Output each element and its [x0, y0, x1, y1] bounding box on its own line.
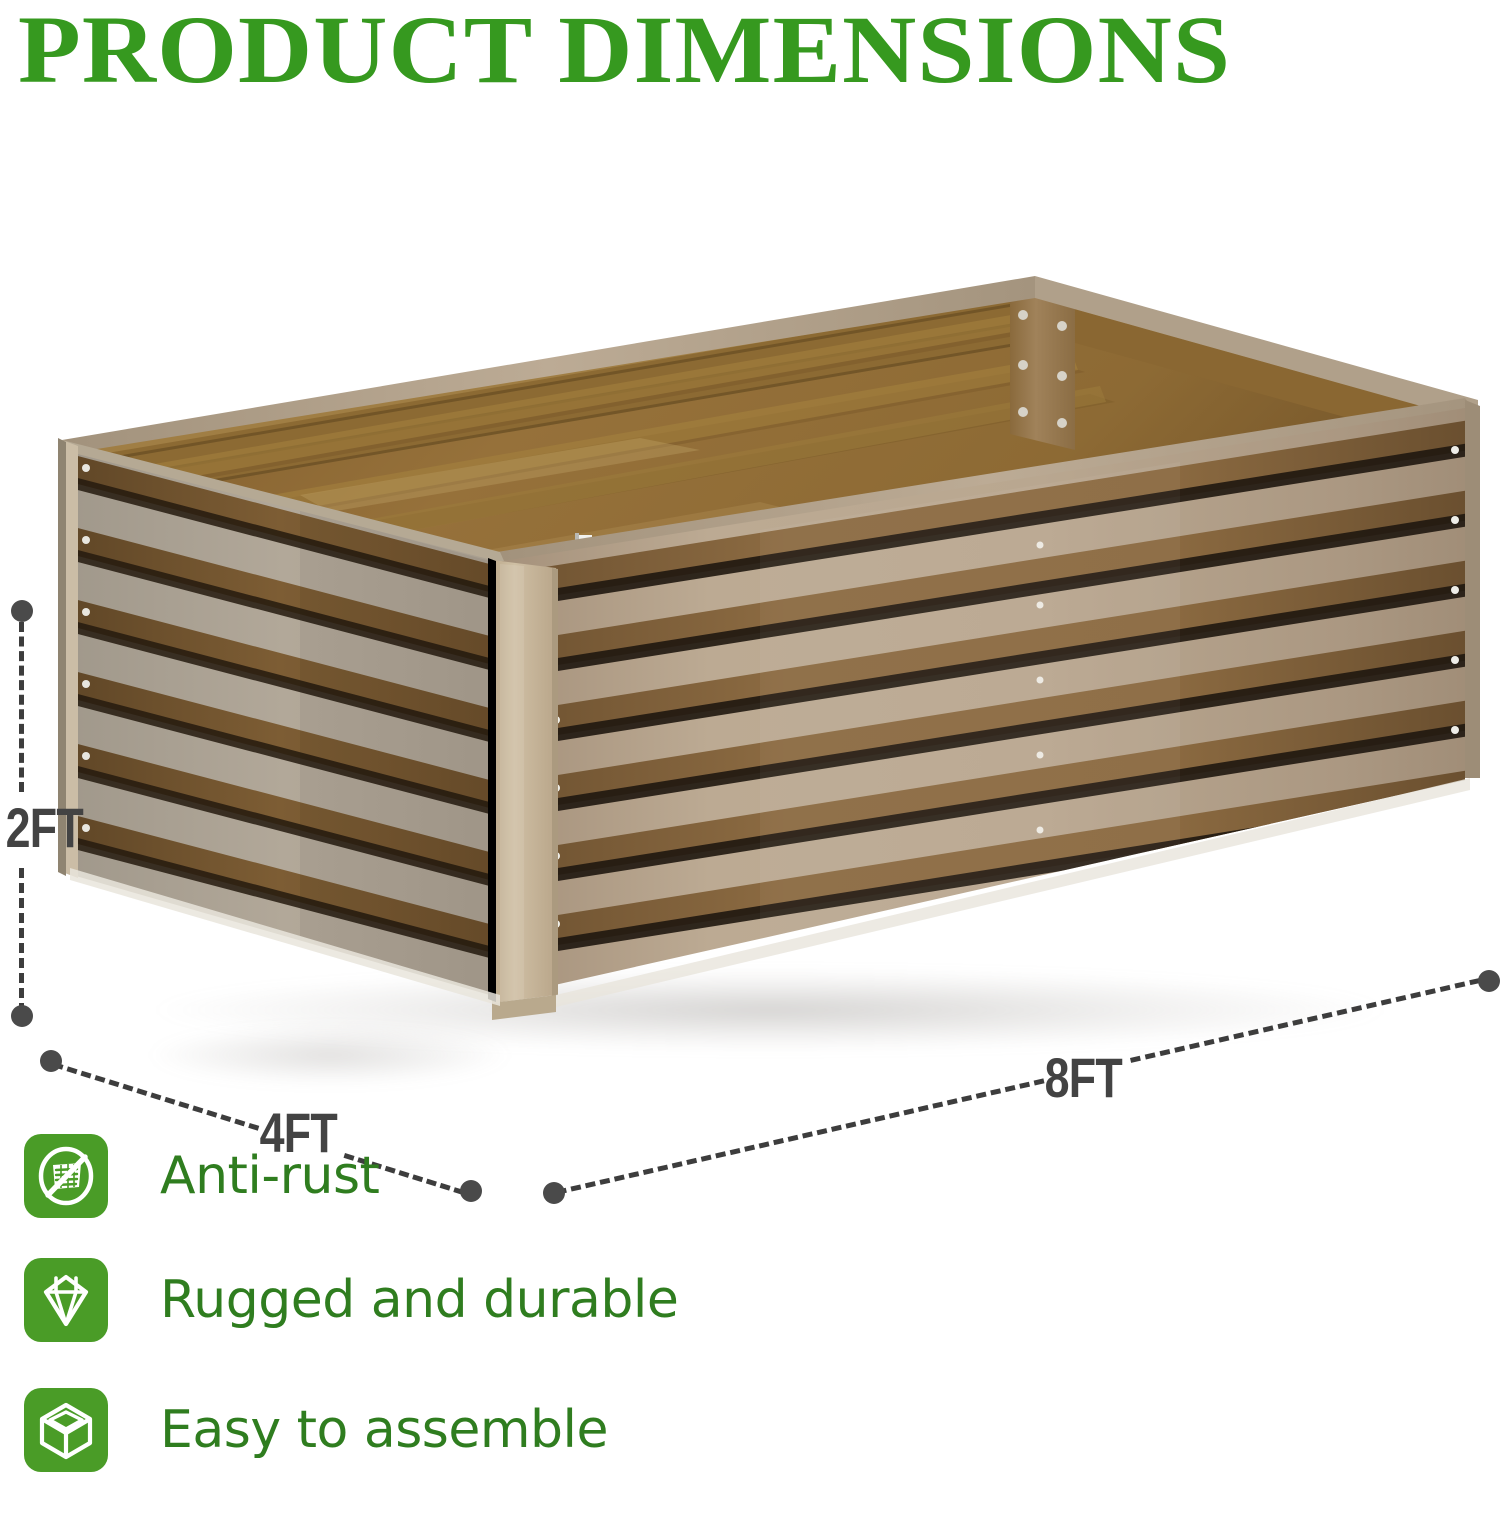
page-title: PRODUCT DIMENSIONS	[18, 0, 1231, 106]
assemble-cube-icon	[24, 1388, 108, 1472]
dimension-line-height-lower	[19, 868, 24, 1013]
dimension-endpoint-height-bottom	[11, 1005, 33, 1027]
feature-item-rugged: Rugged and durable	[0, 1258, 1500, 1388]
corner-post-near	[488, 558, 558, 1003]
raised-garden-bed-graphic	[0, 150, 1500, 1100]
dimension-endpoint-height-top	[11, 600, 33, 622]
feature-label-anti-rust: Anti-rust	[160, 1136, 379, 1216]
anti-rust-icon	[24, 1134, 108, 1218]
diamond-icon	[24, 1258, 108, 1342]
feature-label-assemble: Easy to assemble	[160, 1390, 608, 1470]
dimension-label-height: 2FT	[6, 795, 83, 860]
product-illustration: 2FT 4FT 8FT	[0, 150, 1500, 1100]
right-edge-strip	[1465, 400, 1480, 778]
feature-list: Anti-rust Rugged and durable	[0, 1128, 1500, 1518]
dimension-endpoint-length-end	[1478, 970, 1500, 992]
feature-item-assemble: Easy to assemble	[0, 1388, 1500, 1518]
feature-item-anti-rust: Anti-rust	[0, 1128, 1500, 1258]
corner-post-far	[1010, 285, 1075, 450]
dimension-line-height-upper	[19, 622, 24, 792]
dimension-label-length: 8FT	[1045, 1045, 1122, 1110]
dimension-endpoint-width-start	[40, 1050, 62, 1072]
feature-label-rugged: Rugged and durable	[160, 1260, 678, 1340]
